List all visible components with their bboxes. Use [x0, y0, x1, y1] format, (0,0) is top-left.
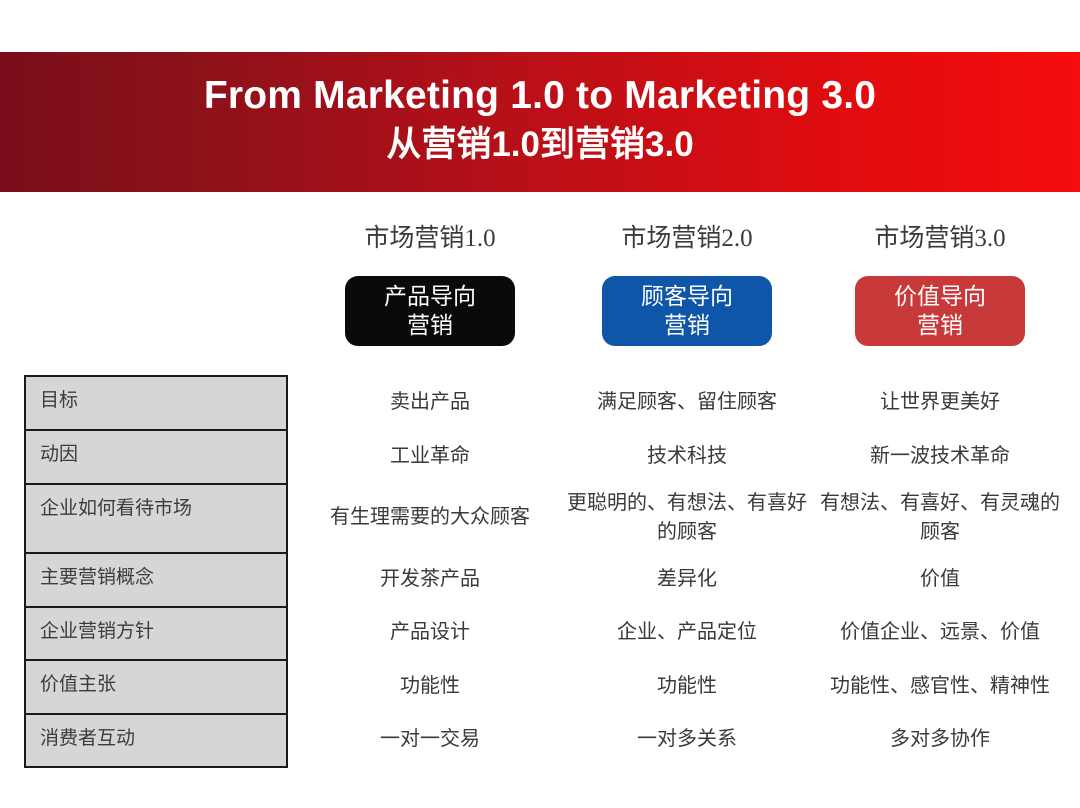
row-label-cell: 动因 — [26, 431, 286, 485]
row-label-cell: 企业如何看待市场 — [26, 485, 286, 554]
table-row: 卖出产品满足顾客、留住顾客让世界更美好 — [300, 375, 1080, 429]
table-cell: 产品设计 — [300, 606, 560, 659]
column-badge-1-line2: 营销 — [407, 311, 453, 340]
column-badge-3-line2: 营销 — [917, 311, 963, 340]
table-row: 功能性功能性功能性、感官性、精神性 — [300, 659, 1080, 713]
column-header-marketing-1: 市场营销1.0 产品导向 营销 — [300, 222, 560, 346]
column-badge-2-line2: 营销 — [664, 311, 710, 340]
row-label-cell: 目标 — [26, 377, 286, 431]
table-cell: 卖出产品 — [300, 375, 560, 429]
table-cell: 一对多关系 — [557, 713, 817, 766]
table-cell: 技术科技 — [557, 429, 817, 483]
table-cell: 有想法、有喜好、有灵魂的顾客 — [810, 483, 1070, 552]
title-chinese: 从营销1.0到营销3.0 — [386, 122, 693, 168]
table-cell: 功能性 — [300, 659, 560, 713]
table-cell: 一对一交易 — [300, 713, 560, 766]
row-label-cell: 主要营销概念 — [26, 554, 286, 608]
table-cell: 多对多协作 — [810, 713, 1070, 766]
row-label-cell: 消费者互动 — [26, 715, 286, 768]
column-badge-3: 价值导向 营销 — [855, 276, 1025, 346]
column-badge-2-line1: 顾客导向 — [641, 282, 733, 311]
table-cell: 有生理需要的大众顾客 — [300, 483, 560, 552]
column-headers: 市场营销1.0 产品导向 营销 市场营销2.0 顾客导向 营销 市场营销3.0 … — [300, 222, 1080, 352]
column-badge-1-line1: 产品导向 — [384, 282, 476, 311]
table-cell: 开发茶产品 — [300, 552, 560, 606]
column-badge-2: 顾客导向 营销 — [602, 276, 772, 346]
column-header-marketing-2: 市场营销2.0 顾客导向 营销 — [557, 222, 817, 346]
table-cell: 企业、产品定位 — [557, 606, 817, 659]
table-cell: 价值 — [810, 552, 1070, 606]
row-label-cell: 企业营销方针 — [26, 608, 286, 661]
column-header-marketing-3: 市场营销3.0 价值导向 营销 — [810, 222, 1070, 346]
column-badge-1: 产品导向 营销 — [345, 276, 515, 346]
title-english: From Marketing 1.0 to Marketing 3.0 — [204, 70, 876, 122]
table-row: 有生理需要的大众顾客更聪明的、有想法、有喜好的顾客有想法、有喜好、有灵魂的顾客 — [300, 483, 1080, 552]
column-badge-3-line1: 价值导向 — [894, 282, 986, 311]
table-cell: 新一波技术革命 — [810, 429, 1070, 483]
table-cell: 更聪明的、有想法、有喜好的顾客 — [557, 483, 817, 552]
comparison-data-grid: 卖出产品满足顾客、留住顾客让世界更美好工业革命技术科技新一波技术革命有生理需要的… — [300, 375, 1080, 766]
table-row: 工业革命技术科技新一波技术革命 — [300, 429, 1080, 483]
title-banner: From Marketing 1.0 to Marketing 3.0 从营销1… — [0, 52, 1080, 192]
table-cell: 差异化 — [557, 552, 817, 606]
table-cell: 价值企业、远景、价值 — [810, 606, 1070, 659]
table-cell: 功能性 — [557, 659, 817, 713]
column-title-2: 市场营销2.0 — [621, 222, 752, 256]
table-cell: 让世界更美好 — [810, 375, 1070, 429]
column-title-1: 市场营销1.0 — [364, 222, 495, 256]
table-row: 开发茶产品差异化价值 — [300, 552, 1080, 606]
table-cell: 功能性、感官性、精神性 — [810, 659, 1070, 713]
column-title-3: 市场营销3.0 — [874, 222, 1005, 256]
row-label-column: 目标动因企业如何看待市场主要营销概念企业营销方针价值主张消费者互动 — [24, 375, 288, 768]
table-row: 产品设计企业、产品定位价值企业、远景、价值 — [300, 606, 1080, 659]
table-row: 一对一交易一对多关系多对多协作 — [300, 713, 1080, 766]
table-cell: 满足顾客、留住顾客 — [557, 375, 817, 429]
table-cell: 工业革命 — [300, 429, 560, 483]
row-label-cell: 价值主张 — [26, 661, 286, 715]
